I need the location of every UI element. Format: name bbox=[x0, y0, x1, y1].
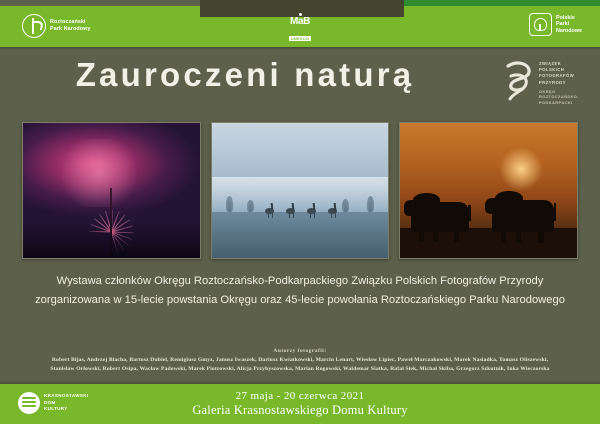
ground-layer bbox=[212, 212, 389, 258]
zpfp-logo-text: ZWIĄZEK POLSKICH FOTOGRAFÓW PRZYRODY OKR… bbox=[539, 58, 579, 106]
logo-line-1: Roztoczański bbox=[50, 19, 91, 26]
authors-line-2: Stanisław Orłowski, Robert Osipa, Wacław… bbox=[18, 365, 582, 374]
poster-title: Zauroczeni naturą bbox=[0, 56, 490, 94]
header-accent-left bbox=[0, 0, 200, 6]
tree-shape bbox=[367, 196, 374, 212]
description-line-1: Wystawa członków Okręgu Roztoczańsko-Pod… bbox=[20, 272, 580, 291]
footer-band: KRASNOSTAWSKI DOM KULTURY 27 maja - 20 c… bbox=[0, 384, 600, 424]
header-accent-right bbox=[404, 0, 600, 6]
exhibition-poster: Roztoczański Park Narodowy MaB UNESCO Po… bbox=[0, 0, 600, 424]
tree-emblem-icon bbox=[529, 13, 552, 36]
authors-line-1: Robert Bijas, Andrzej Blacha, Bartosz Du… bbox=[18, 356, 582, 365]
crane-shape bbox=[328, 204, 337, 218]
photo-row bbox=[22, 122, 578, 259]
authors-heading: Autorzy fotografii: bbox=[18, 348, 582, 354]
zpfp-sub-3: PODKARPACKI bbox=[539, 100, 579, 106]
exhibition-venue: Galeria Krasnostawskiego Domu Kultury bbox=[0, 403, 600, 418]
zpfp-line-1: ZWIĄZEK bbox=[539, 61, 561, 66]
tree-shape bbox=[226, 196, 233, 212]
mab-mark: MaB bbox=[280, 17, 320, 27]
photo-dandelion-dusk bbox=[22, 122, 201, 259]
authors-section: Autorzy fotografii: Robert Bijas, Andrze… bbox=[18, 348, 582, 374]
zpfp-logo: ZWIĄZEK POLSKICH FOTOGRAFÓW PRZYRODY OKR… bbox=[502, 58, 594, 108]
polskie-parki-narodowe-logo: Polskie Parki Narodowe bbox=[529, 13, 582, 36]
crane-shape bbox=[307, 204, 316, 218]
crane-shape bbox=[265, 204, 274, 218]
logo-line-3: Narodowe bbox=[556, 28, 582, 34]
logo-line-2: Park Narodowy bbox=[50, 26, 91, 33]
zpfp-line-2: POLSKICH bbox=[539, 67, 564, 72]
header-band: Roztoczański Park Narodowy MaB UNESCO Po… bbox=[0, 0, 600, 47]
zpfp-glyph-icon bbox=[502, 58, 536, 102]
footer-details: 27 maja - 20 czerwca 2021 Galeria Krasno… bbox=[0, 389, 600, 418]
exhibition-description: Wystawa członków Okręgu Roztoczańsko-Pod… bbox=[20, 272, 580, 310]
roztoczanski-park-narodowy-logo-text: Roztoczański Park Narodowy bbox=[50, 19, 91, 32]
header-band-shadow bbox=[0, 47, 600, 50]
bison-shape bbox=[492, 200, 554, 232]
zpfp-line-4: PRZYRODY bbox=[539, 80, 566, 85]
photo-cranes-misty-field bbox=[211, 122, 390, 259]
tree-shape bbox=[342, 199, 349, 212]
exhibition-dates: 27 maja - 20 czerwca 2021 bbox=[0, 389, 600, 403]
crane-shape bbox=[286, 204, 295, 218]
polskie-parki-narodowe-logo-text: Polskie Parki Narodowe bbox=[556, 15, 582, 34]
park-emblem-icon bbox=[22, 14, 46, 38]
mab-unesco-logo: MaB UNESCO bbox=[280, 13, 320, 45]
sun-shape bbox=[499, 147, 543, 191]
ground-layer bbox=[400, 228, 577, 258]
photo-vignette bbox=[23, 223, 200, 258]
unesco-label: UNESCO bbox=[289, 36, 311, 41]
bison-shape bbox=[411, 202, 469, 232]
photo-bison-sunset bbox=[399, 122, 578, 259]
tree-shape bbox=[247, 200, 254, 212]
roztoczanski-park-narodowy-logo: Roztoczański Park Narodowy bbox=[22, 14, 91, 38]
zpfp-line-3: FOTOGRAFÓW bbox=[539, 73, 574, 78]
description-line-2: zorganizowana w 15-lecie powstania Okręg… bbox=[20, 291, 580, 310]
